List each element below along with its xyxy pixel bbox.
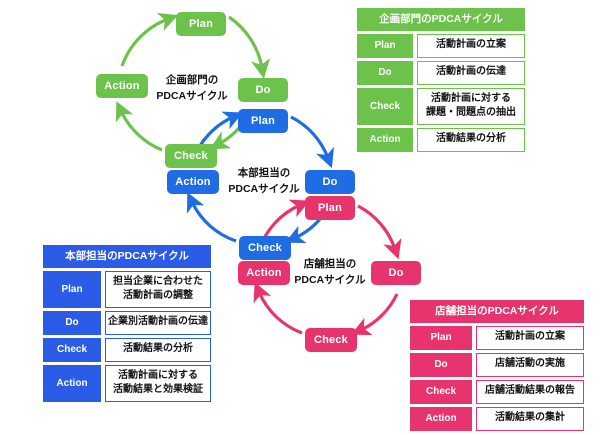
legend-row-plan: Plan 担当企業に合わせた 活動計画の調整 bbox=[43, 271, 211, 308]
legend-key-check: Check bbox=[410, 380, 472, 404]
legend-value-check: 店舗活動結果の報告 bbox=[476, 380, 584, 404]
legend-row-plan: Plan 活動計画の立案 bbox=[410, 326, 584, 350]
legend-row-check: Check 活動計画に対する 課題・問題点の抽出 bbox=[357, 88, 525, 125]
legend-value-check: 活動結果の分析 bbox=[105, 338, 211, 362]
legend-key-do: Do bbox=[357, 61, 413, 85]
legend-table-title: 本部担当のPDCAサイクル bbox=[43, 245, 211, 268]
legend-value-action: 活動結果の集計 bbox=[476, 407, 584, 431]
cycle-node-store-staff-plan[interactable]: Plan bbox=[305, 196, 355, 220]
legend-key-do: Do bbox=[43, 311, 101, 335]
legend-row-action: Action 活動結果の分析 bbox=[357, 128, 525, 152]
legend-key-action: Action bbox=[410, 407, 472, 431]
legend-key-check: Check bbox=[43, 338, 101, 362]
legend-key-check: Check bbox=[357, 88, 413, 125]
legend-table-title: 店舗担当のPDCAサイクル bbox=[410, 300, 584, 323]
legend-value-plan: 活動計画の立案 bbox=[417, 34, 525, 58]
legend-row-action: Action 活動計画に対する 活動結果と効果検証 bbox=[43, 365, 211, 402]
cycle-title-planning-department: 企画部門の PDCAサイクル bbox=[142, 72, 242, 105]
legend-table-planning-department: 企画部門のPDCAサイクル Plan 活動計画の立案 Do 活動計画の伝達 Ch… bbox=[357, 8, 525, 152]
cycle-node-headquarters-staff-action[interactable]: Action bbox=[167, 170, 219, 194]
legend-key-action: Action bbox=[357, 128, 413, 152]
cycle-title-line2: PDCAサイクル bbox=[142, 88, 242, 104]
cycle-title-line2: PDCAサイクル bbox=[214, 181, 314, 197]
diagram-canvas: PlanDoCheckActionPlanDoCheckActionPlanDo… bbox=[0, 0, 600, 435]
legend-value-check: 活動計画に対する 課題・問題点の抽出 bbox=[417, 88, 525, 125]
cycle-title-store-staff: 店舗担当の PDCAサイクル bbox=[280, 256, 380, 289]
cycle-node-planning-department-do[interactable]: Do bbox=[238, 78, 288, 102]
cycle-node-planning-department-check[interactable]: Check bbox=[165, 144, 217, 168]
legend-value-do: 店舗活動の実施 bbox=[476, 353, 584, 377]
legend-table-store-staff: 店舗担当のPDCAサイクル Plan 活動計画の立案 Do 店舗活動の実施 Ch… bbox=[410, 300, 584, 431]
cycle-node-headquarters-staff-plan[interactable]: Plan bbox=[238, 109, 288, 133]
cycle-title-line2: PDCAサイクル bbox=[280, 272, 380, 288]
legend-value-action: 活動計画に対する 活動結果と効果検証 bbox=[105, 365, 211, 402]
legend-key-plan: Plan bbox=[357, 34, 413, 58]
legend-table-headquarters-staff: 本部担当のPDCAサイクル Plan 担当企業に合わせた 活動計画の調整 Do … bbox=[43, 245, 211, 402]
cycle-title-line1: 本部担当の bbox=[214, 165, 314, 181]
legend-table-title: 企画部門のPDCAサイクル bbox=[357, 8, 525, 31]
legend-value-plan: 担当企業に合わせた 活動計画の調整 bbox=[105, 271, 211, 308]
cycle-node-store-staff-check[interactable]: Check bbox=[305, 328, 357, 352]
legend-row-action: Action 活動結果の集計 bbox=[410, 407, 584, 431]
legend-key-plan: Plan bbox=[43, 271, 101, 308]
legend-value-action: 活動結果の分析 bbox=[417, 128, 525, 152]
legend-row-plan: Plan 活動計画の立案 bbox=[357, 34, 525, 58]
legend-row-do: Do 企業別活動計画の伝達 bbox=[43, 311, 211, 335]
cycle-title-headquarters-staff: 本部担当の PDCAサイクル bbox=[214, 165, 314, 198]
legend-row-do: Do 店舗活動の実施 bbox=[410, 353, 584, 377]
legend-row-check: Check 店舗活動結果の報告 bbox=[410, 380, 584, 404]
cycle-title-line1: 企画部門の bbox=[142, 72, 242, 88]
legend-value-do: 活動計画の伝達 bbox=[417, 61, 525, 85]
legend-key-action: Action bbox=[43, 365, 101, 402]
legend-row-do: Do 活動計画の伝達 bbox=[357, 61, 525, 85]
legend-value-plan: 活動計画の立案 bbox=[476, 326, 584, 350]
cycle-title-line1: 店舗担当の bbox=[280, 256, 380, 272]
legend-row-check: Check 活動結果の分析 bbox=[43, 338, 211, 362]
legend-key-do: Do bbox=[410, 353, 472, 377]
cycle-node-planning-department-plan[interactable]: Plan bbox=[176, 12, 226, 36]
legend-key-plan: Plan bbox=[410, 326, 472, 350]
cycle-node-planning-department-action[interactable]: Action bbox=[96, 74, 148, 98]
legend-value-do: 企業別活動計画の伝達 bbox=[105, 311, 211, 335]
